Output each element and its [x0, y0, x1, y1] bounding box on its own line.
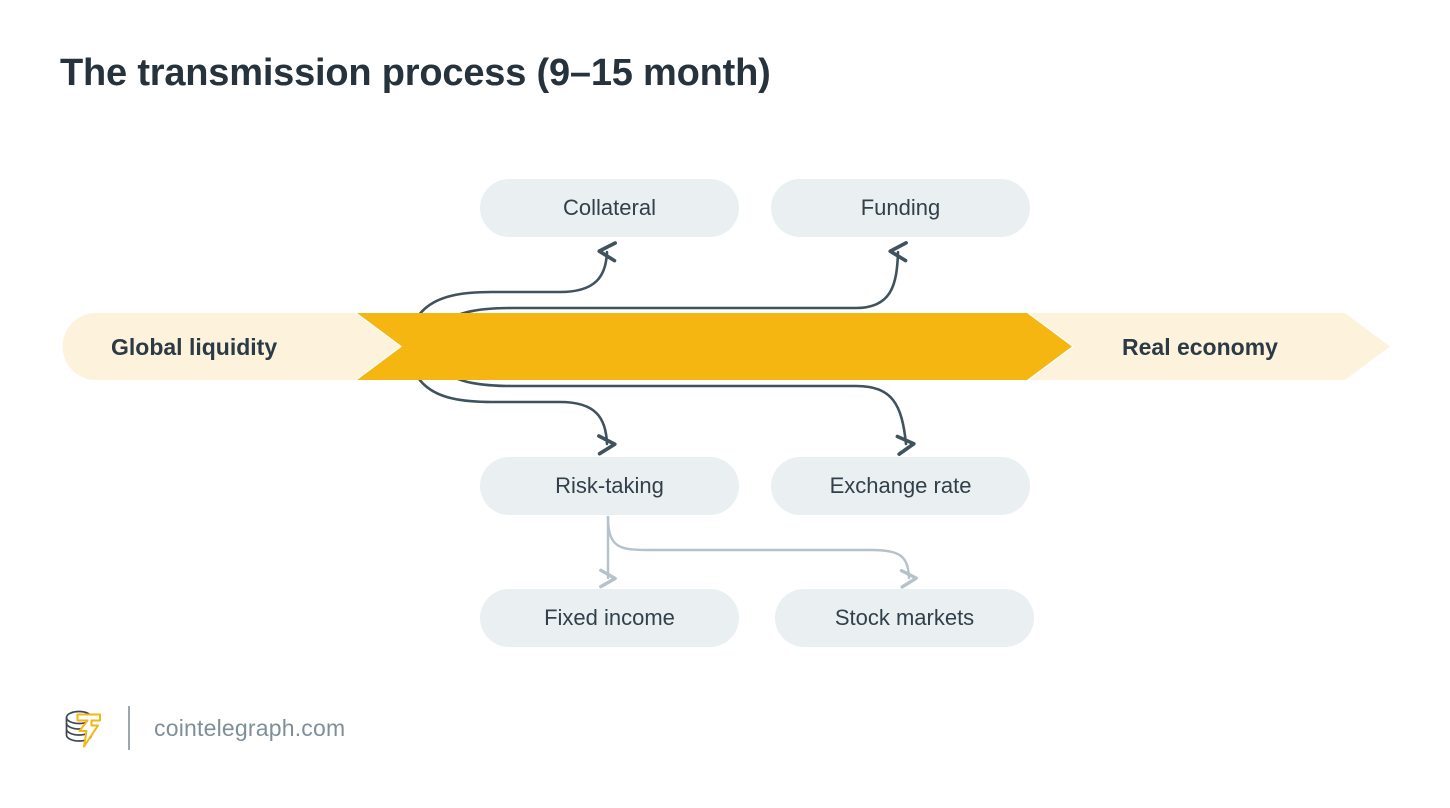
node-stock-markets: Stock markets [775, 589, 1034, 647]
band-start-label: Global liquidity [111, 334, 277, 361]
cointelegraph-logo-icon [60, 705, 106, 751]
diagram-canvas: The transmission process (9–15 month) [0, 0, 1450, 808]
footer-site-label: cointelegraph.com [154, 715, 345, 742]
edge-risk-taking-to-stock-markets [608, 517, 909, 578]
band-segment-flow [357, 313, 1072, 380]
connectors-risk-taking [608, 517, 909, 578]
footer-divider [128, 706, 130, 750]
diagram-graphics [0, 0, 1450, 808]
node-risk-taking: Risk-taking [480, 457, 739, 515]
footer: cointelegraph.com [60, 698, 345, 758]
node-collateral: Collateral [480, 179, 739, 237]
node-fixed-income: Fixed income [480, 589, 739, 647]
band-end-label: Real economy [1122, 334, 1278, 361]
node-funding: Funding [771, 179, 1030, 237]
node-exchange-rate: Exchange rate [771, 457, 1030, 515]
